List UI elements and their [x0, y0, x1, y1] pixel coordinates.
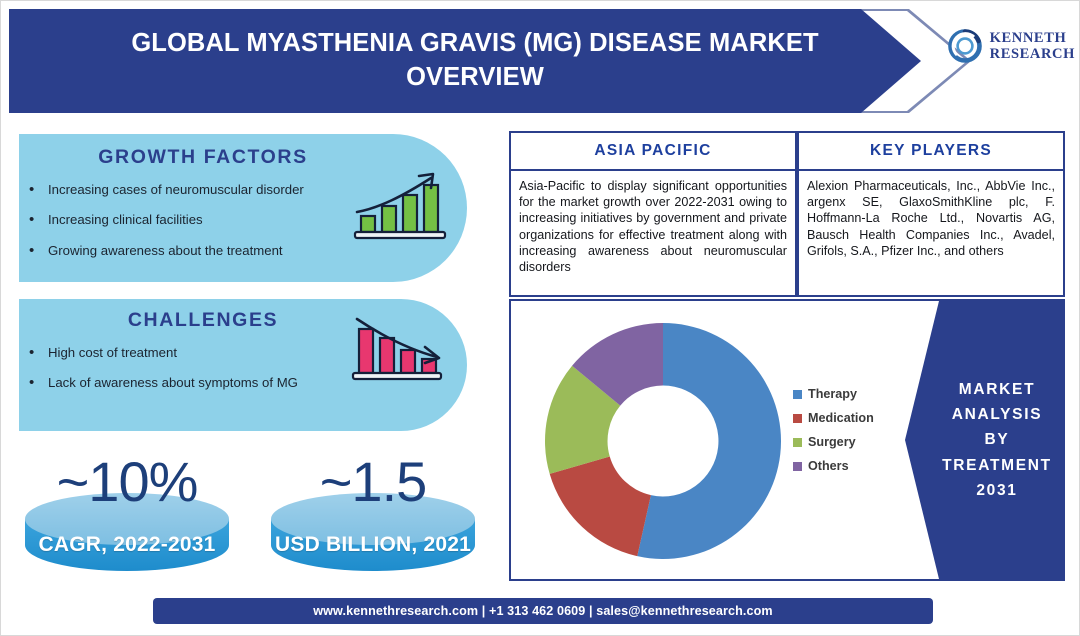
legend-swatch-icon — [793, 414, 802, 423]
growth-factors-title: GROWTH FACTORS — [19, 146, 467, 169]
growth-factors-list: Increasing cases of neuromuscular disord… — [19, 179, 369, 261]
pie-slice-medication — [550, 456, 651, 556]
brand-line-1: KENNETH — [990, 30, 1075, 46]
list-item: Growing awareness about the treatment — [19, 240, 369, 261]
challenges-panel: CHALLENGES High cost of treatment Lack o… — [19, 299, 467, 431]
legend-label: Surgery — [808, 435, 856, 449]
header: GLOBAL MYASTHENIA GRAVIS (MG) DISEASE MA… — [9, 9, 1071, 113]
stat-value: ~10% — [9, 449, 245, 514]
legend-label: Others — [808, 459, 849, 473]
footer-text: www.kennethresearch.com | +1 313 462 060… — [313, 604, 772, 618]
list-item: Increasing clinical facilities — [19, 209, 369, 230]
list-item: Increasing cases of neuromuscular disord… — [19, 179, 369, 200]
key-players-heading-text: KEY PLAYERS — [870, 142, 992, 160]
legend-item-surgery[interactable]: Surgery — [793, 435, 874, 449]
legend-swatch-icon — [793, 390, 802, 399]
key-players-box: KEY PLAYERS Alexion Pharmaceuticals, Inc… — [797, 131, 1065, 297]
page-title: GLOBAL MYASTHENIA GRAVIS (MG) DISEASE MA… — [65, 27, 865, 94]
falling-bar-chart-icon — [351, 317, 443, 383]
stat-label: CAGR, 2022-2031 — [9, 533, 245, 557]
stat-usd-billion: ~1.5 USD BILLION, 2021 — [255, 453, 491, 571]
circle-swirl-logo-icon — [948, 29, 982, 63]
growth-factors-panel: GROWTH FACTORS Increasing cases of neuro… — [19, 134, 467, 282]
asia-pacific-heading-text: ASIA PACIFIC — [594, 142, 711, 160]
brand-logo: KENNETH RESEARCH — [948, 29, 1075, 63]
asia-pacific-heading: ASIA PACIFIC — [511, 133, 795, 171]
chart-legend: TherapyMedicationSurgeryOthers — [793, 387, 874, 483]
list-item: Lack of awareness about symptoms of MG — [19, 372, 389, 393]
asia-pacific-box: ASIA PACIFIC Asia-Pacific to display sig… — [509, 131, 797, 297]
legend-label: Therapy — [808, 387, 857, 401]
legend-swatch-icon — [793, 462, 802, 471]
list-item: High cost of treatment — [19, 342, 389, 363]
legend-item-medication[interactable]: Medication — [793, 411, 874, 425]
market-analysis-callout: MARKETANALYSISBYTREATMENT2031 — [905, 301, 1063, 579]
treatment-chart-panel: TherapyMedicationSurgeryOthers MARKETANA… — [509, 299, 1065, 581]
stat-value: ~1.5 — [255, 449, 491, 514]
key-players-body: Alexion Pharmaceuticals, Inc., AbbVie In… — [799, 171, 1063, 259]
key-players-heading: KEY PLAYERS — [799, 133, 1063, 171]
asia-pacific-body: Asia-Pacific to display significant oppo… — [511, 171, 795, 275]
footer-contact-bar[interactable]: www.kennethresearch.com | +1 313 462 060… — [153, 598, 933, 624]
challenges-list: High cost of treatment Lack of awareness… — [19, 342, 389, 394]
legend-item-therapy[interactable]: Therapy — [793, 387, 874, 401]
brand-name: KENNETH RESEARCH — [990, 30, 1075, 62]
market-analysis-text: MARKETANALYSISBYTREATMENT2031 — [916, 377, 1052, 503]
rising-bar-chart-icon — [353, 170, 449, 242]
legend-item-others[interactable]: Others — [793, 459, 874, 473]
donut-chart — [537, 313, 789, 569]
header-arrow-banner: GLOBAL MYASTHENIA GRAVIS (MG) DISEASE MA… — [9, 9, 921, 113]
infographic-page: GLOBAL MYASTHENIA GRAVIS (MG) DISEASE MA… — [0, 0, 1080, 636]
stat-label: USD BILLION, 2021 — [255, 533, 491, 557]
legend-swatch-icon — [793, 438, 802, 447]
brand-line-2: RESEARCH — [990, 46, 1075, 62]
legend-label: Medication — [808, 411, 874, 425]
stat-cagr: ~10% CAGR, 2022-2031 — [9, 453, 245, 571]
